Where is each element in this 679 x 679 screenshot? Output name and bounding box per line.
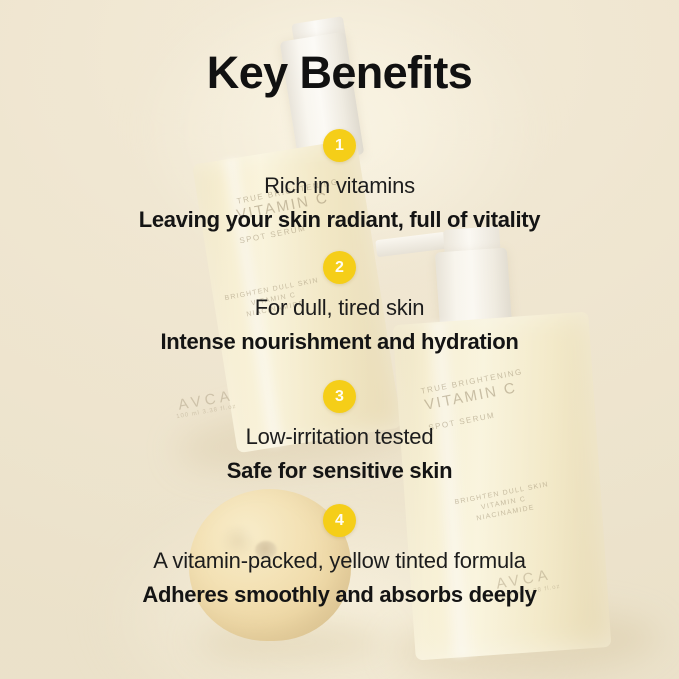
benefit-headline-1: Rich in vitamins [0, 173, 679, 199]
benefit-detail-2: Intense nourishment and hydration [0, 329, 679, 355]
benefit-headline-2: For dull, tired skin [0, 295, 679, 321]
benefit-detail-4: Adheres smoothly and absorbs deeply [0, 582, 679, 608]
benefit-item-2: 2 For dull, tired skin Intense nourishme… [0, 251, 679, 355]
benefit-detail-3: Safe for sensitive skin [0, 458, 679, 484]
benefit-headline-4: A vitamin-packed, yellow tinted formula [0, 548, 679, 574]
key-benefits-poster: TRUE BRIGHTENING VITAMIN C SPOT SERUM BR… [0, 0, 679, 679]
benefit-number-badge-4: 4 [323, 504, 356, 537]
benefit-number-badge-2: 2 [323, 251, 356, 284]
benefit-detail-1: Leaving your skin radiant, full of vital… [0, 207, 679, 233]
benefit-item-3: 3 Low-irritation tested Safe for sensiti… [0, 380, 679, 484]
benefit-item-1: 1 Rich in vitamins Leaving your skin rad… [0, 129, 679, 233]
benefit-headline-3: Low-irritation tested [0, 424, 679, 450]
benefit-number-badge-3: 3 [323, 380, 356, 413]
benefit-number-badge-1: 1 [323, 129, 356, 162]
benefits-copy-layer: Key Benefits 1 Rich in vitamins Leaving … [0, 0, 679, 679]
benefit-item-4: 4 A vitamin-packed, yellow tinted formul… [0, 504, 679, 608]
page-title: Key Benefits [0, 47, 679, 99]
